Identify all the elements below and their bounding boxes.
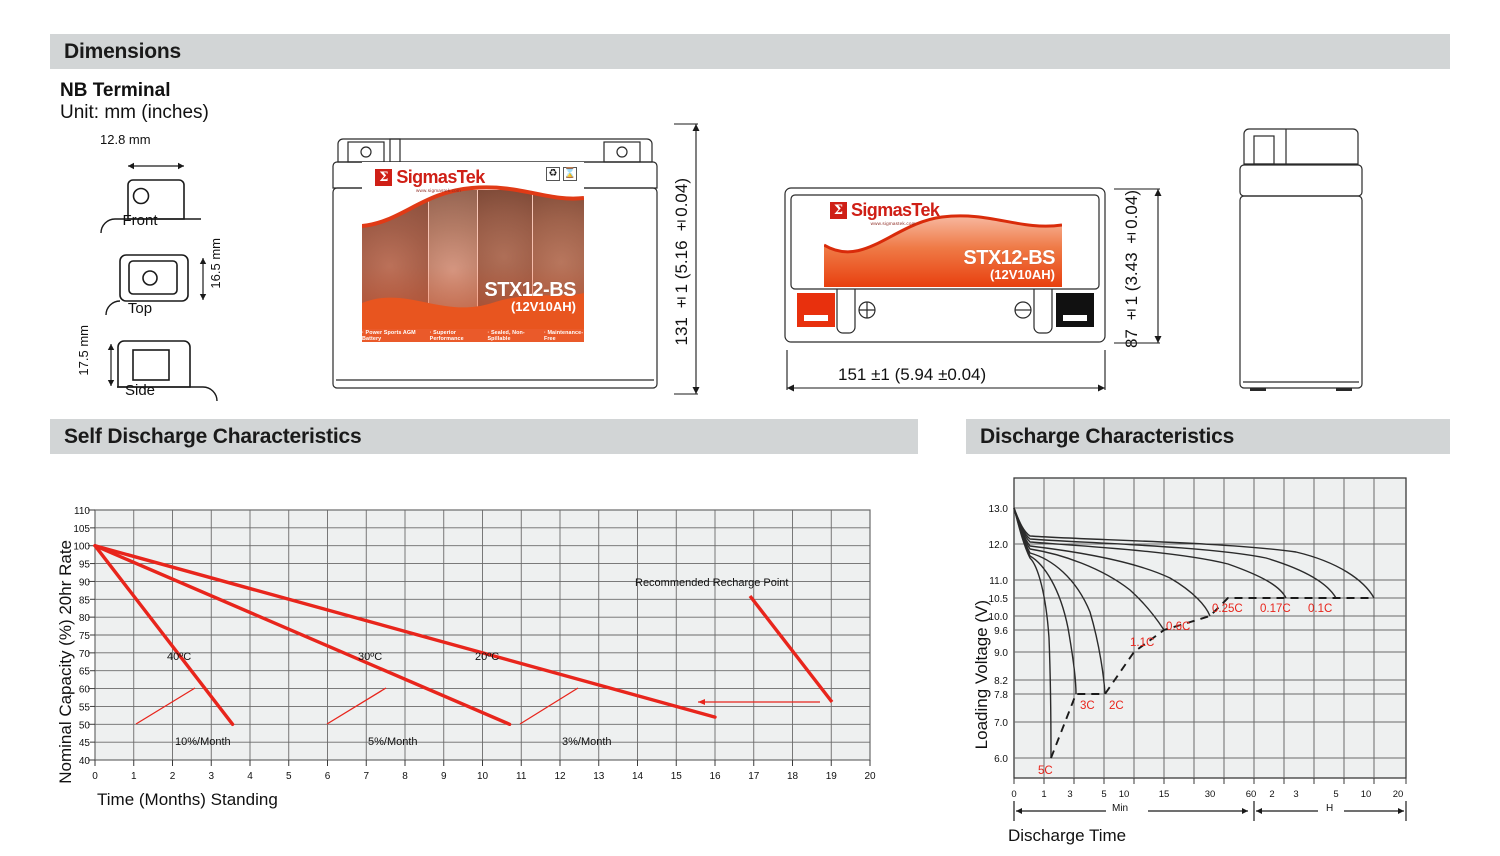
svg-text:0.25C: 0.25C xyxy=(1212,603,1243,615)
svg-text:9.0: 9.0 xyxy=(994,648,1008,659)
side-label-model-block: STX12-BS (12V10AH) xyxy=(963,248,1055,281)
section-title-discharge: Discharge Characteristics xyxy=(966,425,1234,449)
svg-text:11.0: 11.0 xyxy=(989,576,1008,587)
terminal-width-dim: 12.8 mm xyxy=(100,132,151,147)
svg-text:18: 18 xyxy=(787,771,799,782)
svg-text:3: 3 xyxy=(1067,789,1072,800)
svg-text:55: 55 xyxy=(79,702,91,713)
svg-text:19: 19 xyxy=(826,771,838,782)
axis-span-label-min: Min xyxy=(1112,803,1128,814)
model-capacity: (12V10AH) xyxy=(963,268,1055,281)
svg-text:90: 90 xyxy=(79,577,91,588)
svg-text:40: 40 xyxy=(79,756,91,767)
svg-text:0.17C: 0.17C xyxy=(1260,603,1291,615)
label-brand-lockup: Σ SigmasTek www.sigmastek.com xyxy=(375,169,484,193)
svg-text:10%/Month: 10%/Month xyxy=(175,736,231,748)
svg-text:3: 3 xyxy=(1293,789,1298,800)
svg-text:0: 0 xyxy=(1011,789,1016,800)
svg-text:Recommended Recharge Point: Recommended Recharge Point xyxy=(635,577,788,589)
svg-text:110: 110 xyxy=(74,506,90,517)
discharge-chart: 13.0 12.0 11.0 10.5 10.0 9.6 9.0 8.2 7.8… xyxy=(966,466,1426,826)
svg-text:5: 5 xyxy=(1101,789,1106,800)
battery-front-label: Σ SigmasTek www.sigmastek.com ♻ ⌛ STX12-… xyxy=(362,162,584,342)
svg-text:1.1C: 1.1C xyxy=(1130,637,1154,649)
discharge-xlabel: Discharge Time xyxy=(1008,826,1126,846)
svg-text:17: 17 xyxy=(748,771,760,782)
svg-text:16: 16 xyxy=(709,771,721,782)
svg-text:5: 5 xyxy=(1333,789,1338,800)
svg-text:105: 105 xyxy=(73,524,90,535)
terminal-height-dim: 16.5 mm xyxy=(208,238,223,289)
svg-text:65: 65 xyxy=(79,667,91,678)
nb-terminal-block: NB Terminal Unit: mm (inches) xyxy=(60,80,310,124)
svg-text:20ºC: 20ºC xyxy=(475,651,499,663)
label-model-block: STX12-BS (12V10AH) xyxy=(484,280,576,313)
svg-text:75: 75 xyxy=(79,631,91,642)
label-feature-strip: · Power Sports AGM Battery · Superior Pe… xyxy=(362,329,584,342)
svg-text:7: 7 xyxy=(363,771,369,782)
view-label-front: Front xyxy=(110,212,170,229)
self-discharge-xlabel: Time (Months) Standing xyxy=(97,790,278,810)
section-header-self-discharge: Self Discharge Characteristics xyxy=(50,419,918,454)
feature-item: · Power Sports AGM Battery xyxy=(362,330,421,342)
svg-text:10: 10 xyxy=(477,771,489,782)
recycle-icon: ♻ xyxy=(546,167,560,181)
battery-front-view: Σ SigmasTek www.sigmastek.com ♻ ⌛ STX12-… xyxy=(330,118,660,396)
model-capacity: (12V10AH) xyxy=(484,300,576,313)
discharge-ylabel: Loading Voltage (V) xyxy=(972,600,992,749)
svg-text:11: 11 xyxy=(516,771,527,782)
model-name: STX12-BS xyxy=(484,280,576,300)
svg-text:12.0: 12.0 xyxy=(989,540,1009,551)
section-title-self-discharge: Self Discharge Characteristics xyxy=(50,425,361,449)
hourglass-icon: ⌛ xyxy=(563,167,577,181)
svg-text:3: 3 xyxy=(208,771,214,782)
axis-span-label-hour: H xyxy=(1326,803,1333,814)
svg-text:5: 5 xyxy=(286,771,292,782)
side-width-dim-label: 151 ±1 (5.94 ±0.04) xyxy=(838,365,986,385)
svg-text:7.0: 7.0 xyxy=(994,718,1008,729)
svg-text:60: 60 xyxy=(1246,789,1257,800)
svg-text:30: 30 xyxy=(1205,789,1216,800)
svg-text:30ºC: 30ºC xyxy=(358,651,382,663)
svg-text:40ºC: 40ºC xyxy=(167,651,191,663)
brand-name: SigmasTek xyxy=(851,200,939,220)
unit-note: Unit: mm (inches) xyxy=(60,102,310,124)
datasheet-page: Dimensions NB Terminal Unit: mm (inches) xyxy=(0,0,1500,856)
svg-text:10: 10 xyxy=(1361,789,1372,800)
sigma-logo-icon: Σ xyxy=(375,169,392,186)
svg-text:70: 70 xyxy=(79,649,91,660)
view-label-top: Top xyxy=(110,300,170,317)
svg-text:4: 4 xyxy=(247,771,253,782)
compliance-icon-group: ♻ ⌛ xyxy=(546,167,577,181)
svg-text:8: 8 xyxy=(402,771,408,782)
section-header-dimensions: Dimensions xyxy=(50,34,1450,69)
svg-text:14: 14 xyxy=(632,771,644,782)
svg-text:85: 85 xyxy=(79,595,91,606)
svg-text:45: 45 xyxy=(79,738,91,749)
svg-text:15: 15 xyxy=(1159,789,1170,800)
battery-end-view xyxy=(1236,120,1366,396)
svg-text:9: 9 xyxy=(441,771,447,782)
feature-item: · Maintenance-Free xyxy=(544,330,584,342)
brand-name: SigmasTek xyxy=(396,167,484,187)
svg-text:1: 1 xyxy=(131,771,137,782)
battery-side-label: Σ SigmasTek www.sigmastek.com STX12-BS (… xyxy=(824,197,1062,287)
section-header-discharge: Discharge Characteristics xyxy=(966,419,1450,454)
battery-side-view: Σ SigmasTek www.sigmastek.com STX12-BS (… xyxy=(782,185,1108,345)
terminal-views-drawing xyxy=(55,128,315,413)
svg-text:8.2: 8.2 xyxy=(994,676,1008,687)
feature-item: · Sealed, Non-Spillable xyxy=(487,330,535,342)
svg-text:0.1C: 0.1C xyxy=(1308,603,1332,615)
section-title-dimensions: Dimensions xyxy=(50,40,181,64)
svg-text:9.6: 9.6 xyxy=(994,626,1008,637)
side-label-brand-lockup: Σ SigmasTek www.sigmastek.com xyxy=(830,202,939,226)
svg-text:7.8: 7.8 xyxy=(994,690,1008,701)
self-discharge-chart: 110105100 959085 807570 656055 504540 01… xyxy=(50,490,890,820)
svg-text:50: 50 xyxy=(79,720,91,731)
svg-text:3C: 3C xyxy=(1080,700,1095,712)
model-name: STX12-BS xyxy=(963,248,1055,268)
front-height-dim-label: 131 ±1 (5.16 ±0.04) xyxy=(672,178,692,345)
svg-text:12: 12 xyxy=(554,771,566,782)
svg-text:15: 15 xyxy=(671,771,683,782)
svg-text:2: 2 xyxy=(1269,789,1274,800)
svg-text:2C: 2C xyxy=(1109,700,1124,712)
svg-text:60: 60 xyxy=(79,685,91,696)
svg-text:80: 80 xyxy=(79,613,91,624)
svg-text:6.0: 6.0 xyxy=(994,754,1008,765)
brand-url: www.sigmastek.com xyxy=(392,188,484,193)
self-discharge-ylabel: Nominal Capacity (%) 20hr Rate xyxy=(56,540,76,784)
nb-terminal-heading: NB Terminal xyxy=(60,80,310,102)
side-height-dim-label: 87 ±1 (3.43 ±0.04) xyxy=(1122,190,1142,348)
svg-text:13.0: 13.0 xyxy=(989,504,1009,515)
svg-text:1: 1 xyxy=(1041,789,1046,800)
sigma-logo-icon: Σ xyxy=(830,202,847,219)
svg-text:95: 95 xyxy=(79,560,91,571)
svg-text:20: 20 xyxy=(864,771,876,782)
svg-text:3%/Month: 3%/Month xyxy=(562,736,612,748)
svg-text:10: 10 xyxy=(1119,789,1130,800)
svg-text:6: 6 xyxy=(325,771,331,782)
feature-item: · Superior Performance xyxy=(430,330,479,342)
svg-text:2: 2 xyxy=(170,771,176,782)
svg-text:0: 0 xyxy=(92,771,98,782)
brand-url: www.sigmastek.com xyxy=(847,221,939,226)
terminal-depth-dim: 17.5 mm xyxy=(76,325,91,376)
svg-text:5%/Month: 5%/Month xyxy=(368,736,418,748)
svg-text:0.6C: 0.6C xyxy=(1166,621,1190,633)
svg-text:20: 20 xyxy=(1393,789,1404,800)
svg-text:5C: 5C xyxy=(1038,765,1053,777)
view-label-side: Side xyxy=(110,382,170,399)
svg-text:13: 13 xyxy=(593,771,605,782)
